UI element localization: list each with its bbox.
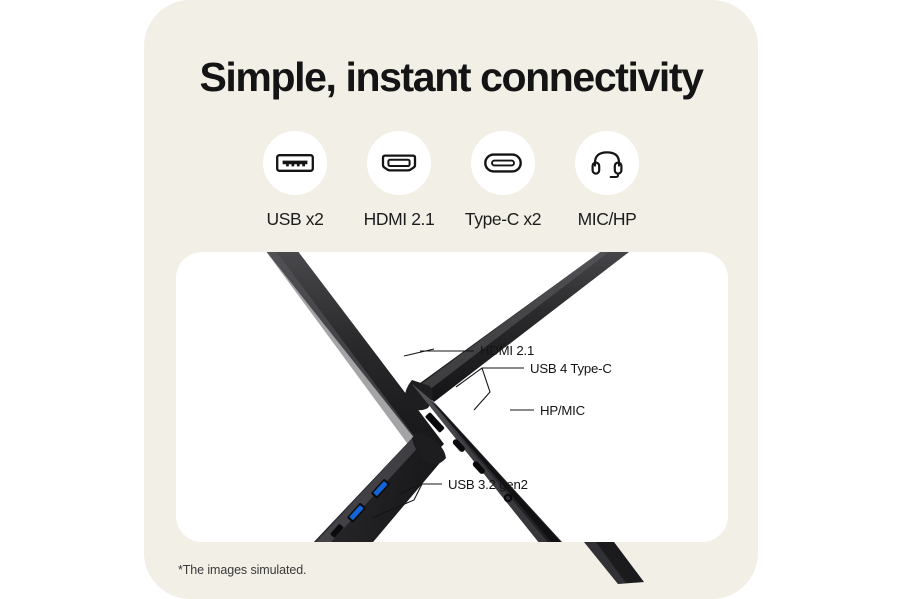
- port-label-hdmi: HDMI 2.1: [364, 209, 435, 230]
- port-item-michp: MIC/HP: [568, 131, 646, 230]
- promo-card: Simple, instant connectivity USB x2: [144, 0, 758, 599]
- footnote: *The images simulated.: [178, 563, 306, 577]
- port-icon-row: USB x2 HDMI 2.1 Type-C: [144, 131, 758, 230]
- port-label-usb: USB x2: [267, 209, 324, 230]
- usb-c-icon: [471, 131, 535, 195]
- promo-image: Simple, instant connectivity USB x2: [0, 0, 903, 599]
- page-title: Simple, instant connectivity: [144, 55, 758, 101]
- headset-icon: [575, 131, 639, 195]
- port-item-hdmi: HDMI 2.1: [360, 131, 438, 230]
- port-item-typec: Type-C x2: [464, 131, 542, 230]
- port-label-typec: Type-C x2: [465, 209, 541, 230]
- laptop-tail: [584, 542, 644, 584]
- usb-a-icon: [263, 131, 327, 195]
- hdmi-icon: [367, 131, 431, 195]
- port-label-michp: MIC/HP: [578, 209, 637, 230]
- port-item-usb: USB x2: [256, 131, 334, 230]
- product-image-panel: [176, 252, 728, 542]
